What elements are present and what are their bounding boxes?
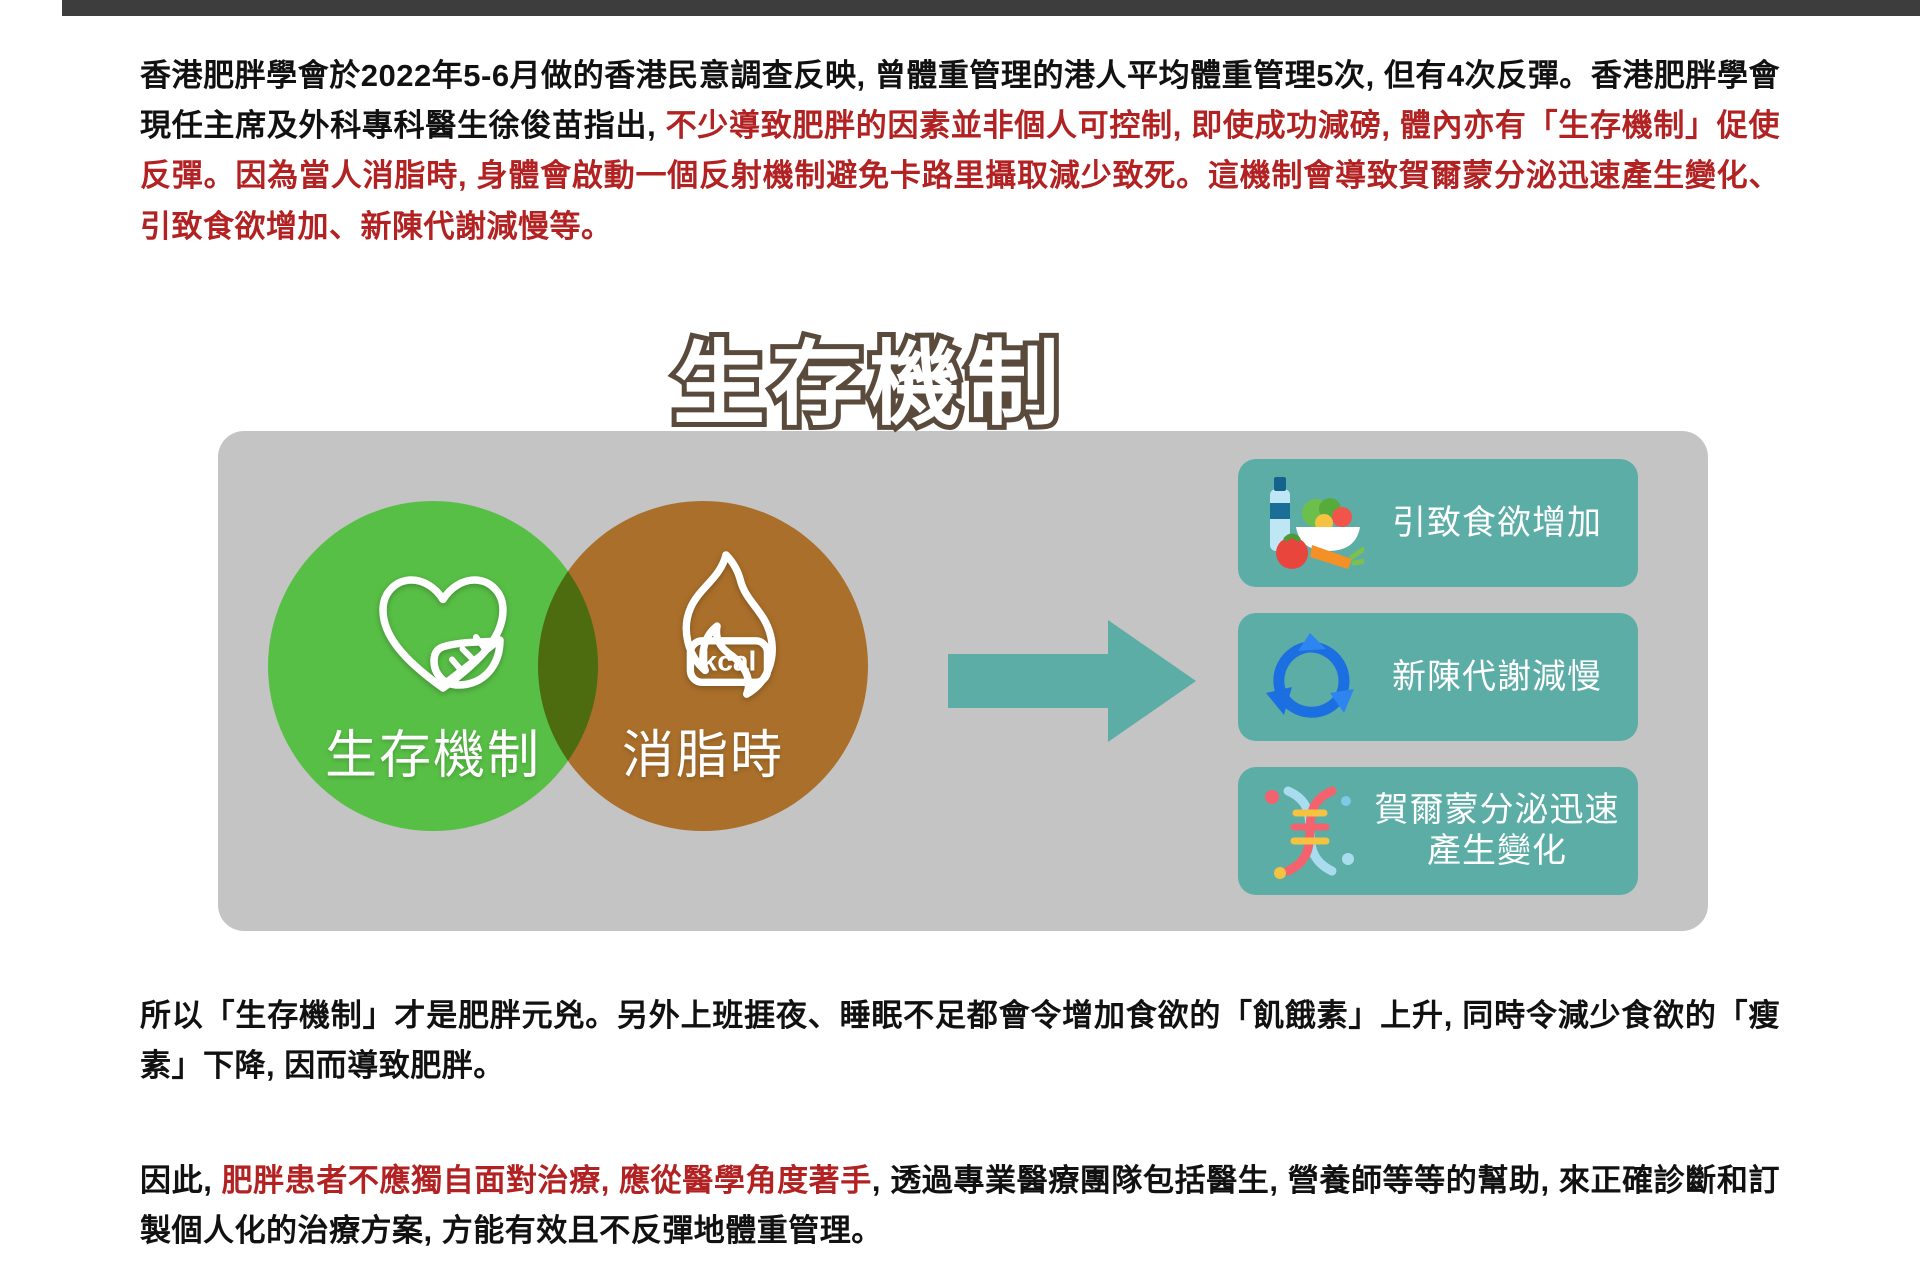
result-label-appetite: 引致食欲增加 [1370, 503, 1638, 544]
document-page: 香港肥胖學會於2022年5-6月做的香港民意調查反映, 曾體重管理的港人平均體重… [0, 16, 1920, 1265]
svg-text:kcal: kcal [702, 645, 757, 676]
text-run-red: 肥胖患者不應獨自面對治療, 應從醫學角度著手 [222, 1163, 872, 1198]
infographic-title: 生存機制 [673, 339, 1065, 431]
paragraph-middle: 所以「生存機制」才是肥胖元兇。另外上班捱夜、睡眠不足都會令增加食欲的「飢餓素」上… [140, 991, 1780, 1091]
text-run-black: 因此, [140, 1163, 222, 1198]
salad-bowl-icon [1250, 468, 1370, 578]
result-box-hormone: 賀爾蒙分泌迅速 產生變化 [1238, 767, 1638, 895]
result-box-appetite: 引致食欲增加 [1238, 459, 1638, 587]
flame-kcal-icon: kcal [648, 549, 798, 714]
right-arrow-icon [948, 616, 1198, 751]
paragraph-intro: 香港肥胖學會於2022年5-6月做的香港民意調查反映, 曾體重管理的港人平均體重… [140, 51, 1780, 252]
dna-helix-icon [1250, 776, 1370, 886]
venn-label-fatburn: 消脂時 [538, 713, 868, 788]
result-box-metabolism: 新陳代謝減慢 [1238, 613, 1638, 741]
top-strip-gap [0, 0, 62, 16]
paragraph-conclusion: 因此, 肥胖患者不應獨自面對治療, 應從醫學角度著手, 透過專業醫療團隊包括醫生… [140, 1156, 1780, 1256]
recycle-arrows-icon [1250, 622, 1370, 732]
result-label-metabolism: 新陳代謝減慢 [1370, 657, 1638, 698]
top-browser-strip [0, 0, 1920, 16]
text-run-black: 所以「生存機制」才是肥胖元兇。另外上班捱夜、睡眠不足都會令增加食欲的「飢餓素」上… [140, 998, 1780, 1083]
heart-leaf-icon [368, 556, 518, 711]
infographic: 生存機制 kcal 生存機制 消脂時 [218, 431, 1708, 931]
result-label-hormone: 賀爾蒙分泌迅速 產生變化 [1370, 790, 1638, 872]
